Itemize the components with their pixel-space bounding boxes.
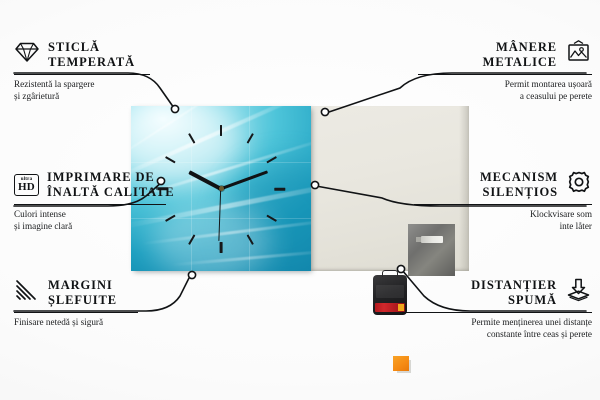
feature-glass-rule xyxy=(14,74,150,75)
feature-edges-desc: Finisare netedă și sigură xyxy=(14,316,138,328)
face-grid-line xyxy=(191,106,192,271)
feature-mechanism-head: MECANISM SILENȚIOS xyxy=(414,170,592,200)
face-grid-line xyxy=(249,106,250,271)
feature-handles-title: MÂNERE METALICE xyxy=(483,40,557,70)
feature-mechanism: MECANISM SILENȚIOS Klockvisare som inte … xyxy=(414,170,592,233)
movement-panel xyxy=(376,285,404,298)
feature-mechanism-desc: Klockvisare som inte låter xyxy=(414,208,592,233)
feature-mechanism-title: MECANISM SILENȚIOS xyxy=(480,170,558,200)
feature-print-desc: Culori intense și imagine clară xyxy=(14,208,175,233)
gear-icon xyxy=(566,170,592,199)
feature-handles-head: MÂNERE METALICE xyxy=(418,40,592,70)
feature-print-rule xyxy=(14,204,166,205)
feature-edges-head: MARGINI ȘLEFUITE xyxy=(14,278,138,308)
feature-spacer-title: DISTANȚIER SPUMĂ xyxy=(471,278,557,308)
polished-edges-icon xyxy=(14,279,40,306)
feature-handles-desc: Permit montarea ușoară a ceasului pe per… xyxy=(418,78,592,103)
foam-spacer xyxy=(393,356,409,371)
feature-edges: MARGINI ȘLEFUITE Finisare netedă și sigu… xyxy=(14,278,138,328)
clock-hour-mark xyxy=(220,242,223,253)
infographic-page: STICLĂ TEMPERATĂ Rezistentă la spargere … xyxy=(0,0,600,400)
clock-center-pin xyxy=(219,186,224,191)
hanger-slot xyxy=(421,236,443,243)
feature-handles: MÂNERE METALICE Permit montarea ușoară a… xyxy=(418,40,592,103)
diamond-icon xyxy=(14,41,40,68)
ultra-hd-icon-large-text: HD xyxy=(18,182,35,193)
feature-mechanism-rule xyxy=(414,204,592,205)
feature-spacer-head: DISTANȚIER SPUMĂ xyxy=(402,278,592,308)
feature-spacer: DISTANȚIER SPUMĂ Permite menținerea unei… xyxy=(402,278,592,341)
clock-hour-mark xyxy=(220,125,223,136)
movement-hook xyxy=(382,270,398,277)
feature-handles-rule xyxy=(418,74,592,75)
foam-spacer-icon xyxy=(565,278,592,307)
ultra-hd-icon: ultra HD xyxy=(14,174,39,196)
aa-battery xyxy=(375,303,405,312)
feature-print-head: ultra HD IMPRIMARE DE ÎNALTĂ CALITATE xyxy=(14,170,175,200)
feature-spacer-rule xyxy=(402,312,592,313)
feature-print-title: IMPRIMARE DE ÎNALTĂ CALITATE xyxy=(47,170,175,200)
feature-edges-title: MARGINI ȘLEFUITE xyxy=(48,278,117,308)
feature-spacer-desc: Permite menținerea unei distanțe constan… xyxy=(402,316,592,341)
feature-print: ultra HD IMPRIMARE DE ÎNALTĂ CALITATE Cu… xyxy=(14,170,175,233)
feature-glass: STICLĂ TEMPERATĂ Rezistentă la spargere … xyxy=(14,40,150,103)
picture-hanger-icon xyxy=(565,40,592,69)
connector-dot-edges xyxy=(188,271,195,278)
clock-hour-mark xyxy=(274,187,285,190)
feature-glass-head: STICLĂ TEMPERATĂ xyxy=(14,40,150,70)
clock-hour-mark xyxy=(247,133,254,144)
feature-glass-desc: Rezistentă la spargere și zgârietură xyxy=(14,78,150,103)
face-grid-line xyxy=(131,162,311,163)
feature-glass-title: STICLĂ TEMPERATĂ xyxy=(48,40,135,70)
feature-edges-rule xyxy=(14,312,138,313)
